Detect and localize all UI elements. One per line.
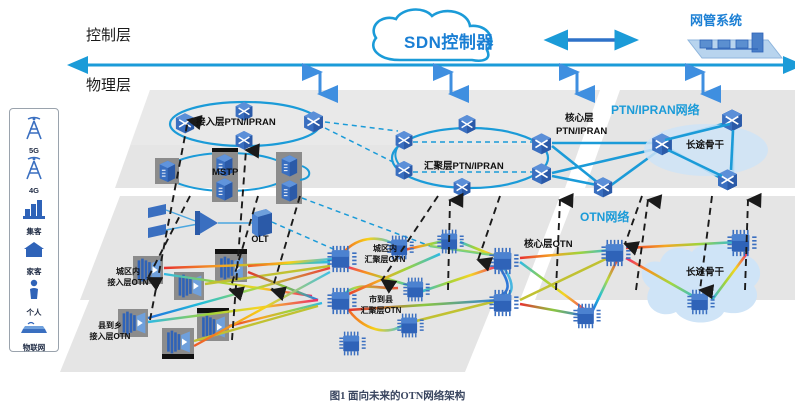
label-otn-backbone: 长途骨干 bbox=[686, 268, 724, 278]
legend-label-enterprise: 集客 bbox=[10, 226, 58, 237]
nms-label: 网管系统 bbox=[690, 14, 742, 28]
label-ptn-core-1: 核心层 bbox=[565, 114, 594, 124]
network-architecture-svg bbox=[0, 0, 795, 419]
label-otn-agg-urban-2: 汇聚层OTN bbox=[352, 256, 418, 265]
otn-network-title: OTN网络 bbox=[580, 211, 629, 224]
iot-router-icon bbox=[19, 317, 49, 337]
sdn-controller-label: SDN控制器 bbox=[404, 34, 494, 52]
label-otn-access-urban-2: 接入层OTN bbox=[98, 279, 158, 288]
tower-4g-icon bbox=[21, 155, 47, 181]
label-control-layer: 控制层 bbox=[86, 28, 131, 44]
label-otn-access-county-1: 县到乡 bbox=[80, 322, 140, 331]
label-olt: OLT bbox=[247, 234, 273, 244]
label-ptn-access-ring: 接入层PTN/IPRAN bbox=[196, 118, 276, 128]
factory-icon bbox=[21, 197, 47, 221]
label-ptn-core-2: PTN/IPRAN bbox=[556, 127, 607, 137]
label-otn-access-urban-1: 城区内 bbox=[98, 268, 158, 277]
label-otn-agg-city-2: 汇聚层OTN bbox=[348, 307, 414, 316]
legend-item-iot[interactable]: 物联网 bbox=[10, 317, 58, 353]
legend-label-5g: 5G bbox=[10, 146, 58, 155]
label-physical-layer: 物理层 bbox=[86, 78, 131, 94]
legend-label-home: 家客 bbox=[10, 266, 58, 277]
ptn-network-title: PTN/IPRAN网络 bbox=[611, 104, 700, 117]
nms-icon bbox=[688, 33, 782, 58]
label-ptn-backbone: 长途骨干 bbox=[686, 141, 724, 151]
house-icon bbox=[21, 239, 47, 261]
legend-panel: 5G 4G 集客 家客 bbox=[9, 108, 59, 352]
legend-label-4g: 4G bbox=[10, 186, 58, 195]
legend-item-individual[interactable]: 个人 bbox=[10, 278, 58, 318]
person-icon bbox=[21, 278, 47, 302]
legend-item-5g[interactable]: 5G bbox=[10, 115, 58, 155]
label-otn-agg-urban-1: 城区内 bbox=[352, 245, 418, 254]
label-mstp-ring: MSTP bbox=[212, 168, 238, 178]
label-otn-core: 核心层OTN bbox=[524, 240, 573, 250]
label-otn-access-county-2: 接入层OTN bbox=[80, 333, 140, 342]
legend-item-home[interactable]: 家客 bbox=[10, 239, 58, 277]
figure-canvas: 控制层 物理层 SDN控制器 网管系统 PTN/IPRAN网络 OTN网络 接入… bbox=[0, 0, 795, 419]
tower-5g-icon bbox=[21, 115, 47, 141]
legend-item-enterprise[interactable]: 集客 bbox=[10, 197, 58, 237]
label-ptn-aggregation-ring: 汇聚层PTN/IPRAN bbox=[424, 162, 504, 172]
label-otn-agg-city-1: 市到县 bbox=[348, 296, 414, 305]
legend-item-4g[interactable]: 4G bbox=[10, 155, 58, 195]
legend-label-iot: 物联网 bbox=[10, 342, 58, 353]
figure-caption: 图1 面向未来的OTN网络架构 bbox=[0, 388, 795, 403]
olt-icon bbox=[252, 209, 272, 237]
